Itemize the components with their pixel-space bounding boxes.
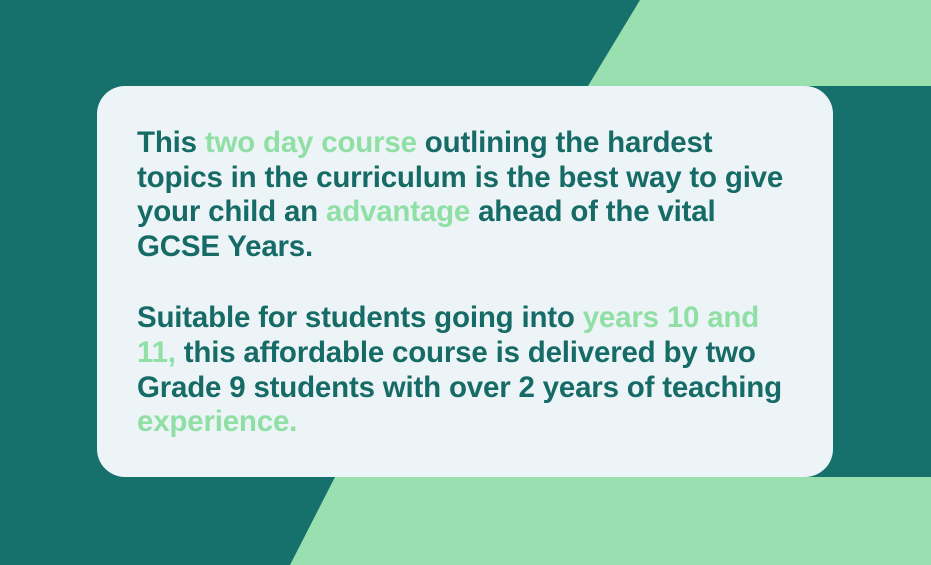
paragraph-course-intro: This two day course outlining the hardes… <box>137 126 789 264</box>
content-card: This two day course outlining the hardes… <box>97 86 833 477</box>
bottom-right-green-shape <box>290 477 931 565</box>
top-right-green-shape <box>588 0 931 86</box>
promo-graphic: This two day course outlining the hardes… <box>0 0 931 565</box>
body-text: this affordable course is delivered by t… <box>137 336 790 404</box>
card-text-body: This two day course outlining the hardes… <box>137 126 789 440</box>
body-text: This <box>137 126 205 159</box>
highlighted-text: experience. <box>137 405 297 438</box>
paragraph-course-details: Suitable for students going into years 1… <box>137 301 789 439</box>
body-text: Suitable for students going into <box>137 301 583 334</box>
highlighted-text: two day course <box>205 126 417 159</box>
highlighted-text: advantage <box>326 195 470 228</box>
